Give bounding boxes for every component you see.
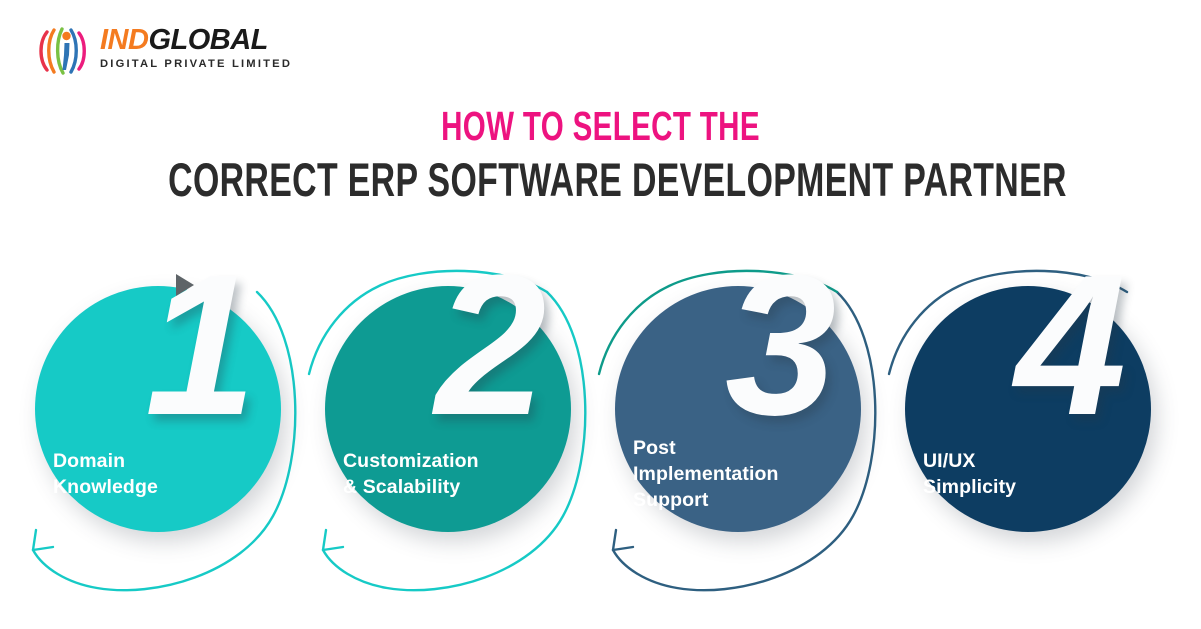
brand-name-part2: GLOBAL <box>148 24 267 56</box>
step-label-1-line1: Domain <box>53 448 263 474</box>
title-line-2: CORRECT ERP SOFTWARE DEVELOPMENT PARTNER <box>168 154 1033 206</box>
step-number-2: 2 <box>435 246 540 446</box>
step-number-1: 1 <box>145 246 250 446</box>
infographic-canvas: INDGLOBAL DIGITAL PRIVATE LIMITED HOW TO… <box>0 0 1201 629</box>
step-label-4: UI/UX Simplicity <box>923 448 1133 500</box>
brand-logo[interactable]: INDGLOBAL DIGITAL PRIVATE LIMITED <box>36 20 306 82</box>
steps-row: 1 Domain Knowledge 2 Customization & Sca… <box>0 258 1201 618</box>
play-triangle-marker <box>176 274 194 296</box>
step-label-4-line2: Simplicity <box>923 474 1133 500</box>
step-item-3[interactable]: 3 Post Implementation Support <box>585 258 885 618</box>
step-label-2-line1: Customization <box>343 448 553 474</box>
step-label-1-line2: Knowledge <box>53 474 263 500</box>
step-number-4: 4 <box>1015 246 1120 446</box>
step-label-3-line1: Post <box>633 435 843 461</box>
brand-tagline: DIGITAL PRIVATE LIMITED <box>100 57 300 71</box>
step-number-3: 3 <box>725 246 830 446</box>
step-item-2[interactable]: 2 Customization & Scalability <box>295 258 595 618</box>
step-label-4-line1: UI/UX <box>923 448 1133 474</box>
brand-wordmark: INDGLOBAL DIGITAL PRIVATE LIMITED <box>100 25 300 71</box>
step-item-1[interactable]: 1 Domain Knowledge <box>5 258 305 618</box>
step-label-2-line2: & Scalability <box>343 474 553 500</box>
indglobal-swoosh-icon <box>36 22 92 78</box>
step-label-3: Post Implementation Support <box>633 435 843 513</box>
step-label-2: Customization & Scalability <box>343 448 553 500</box>
brand-name: INDGLOBAL <box>100 25 300 55</box>
step-label-3-line3: Support <box>633 487 843 513</box>
step-item-4[interactable]: 4 UI/UX Simplicity <box>875 258 1175 618</box>
title-line-1: HOW TO SELECT THE <box>168 104 1033 148</box>
brand-name-part1: IND <box>100 24 148 56</box>
step-label-1: Domain Knowledge <box>53 448 263 500</box>
step-label-3-line2: Implementation <box>633 461 843 487</box>
page-title: HOW TO SELECT THE CORRECT ERP SOFTWARE D… <box>0 104 1201 206</box>
